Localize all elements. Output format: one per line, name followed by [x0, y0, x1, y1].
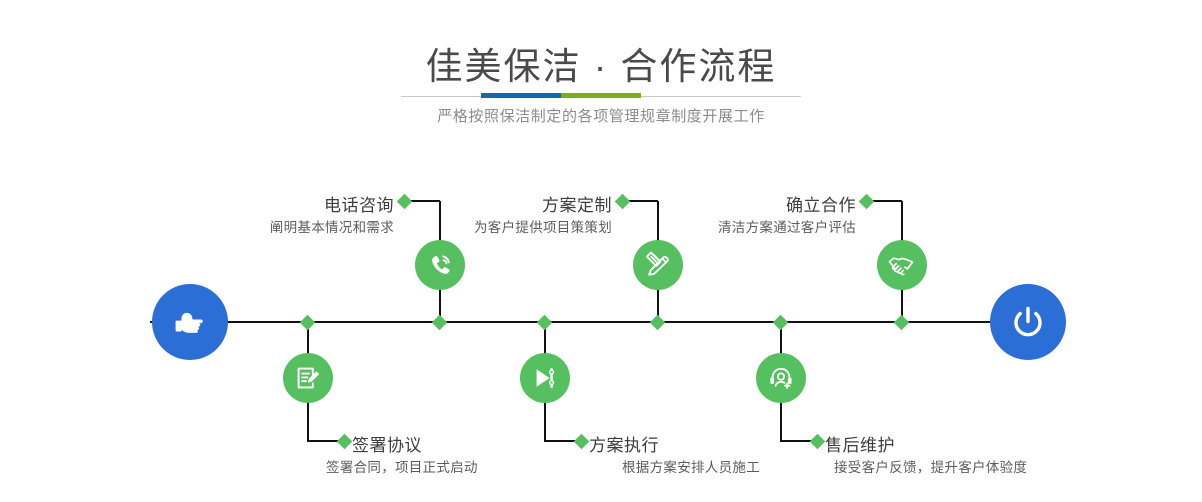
headset-support-icon [767, 364, 795, 392]
step-4-desc: 根据方案安排人员施工 [622, 456, 760, 476]
step-6-desc: 清洁方案通过客户评估 [626, 216, 856, 236]
divider-segment-blue [481, 93, 561, 98]
timeline-axis [150, 321, 1050, 323]
step-2-node [283, 353, 333, 403]
step-5-node [756, 353, 806, 403]
step-1-axis-marker [432, 314, 448, 330]
cooperation-flow-infographic: 佳美保洁 · 合作流程 严格按照保洁制定的各项管理规章制度开展工作 [0, 0, 1202, 502]
step-5-label-marker [810, 433, 826, 449]
step-3-label-marker [615, 193, 631, 209]
page-subtitle: 严格按照保洁制定的各项管理规章制度开展工作 [0, 105, 1202, 126]
step-2-desc: 签署合同，项目正式启动 [326, 456, 478, 476]
step-6-node [877, 240, 927, 290]
step-2-label-marker [337, 433, 353, 449]
step-1-title: 电话咨询 [210, 191, 394, 216]
step-3-title: 方案定制 [430, 191, 612, 216]
title-divider [401, 93, 801, 99]
step-4-node [520, 353, 570, 403]
play-execute-icon [531, 364, 559, 392]
step-4-title: 方案执行 [589, 431, 659, 456]
divider-segment-green [561, 93, 641, 98]
step-1-label-marker [397, 193, 413, 209]
step-2-axis-marker [300, 314, 316, 330]
step-5-desc: 接受客户反馈，提升客户体验度 [834, 456, 1027, 476]
step-1-node [415, 240, 465, 290]
page-title: 佳美保洁 · 合作流程 [0, 36, 1202, 90]
timeline-start-endpoint [152, 284, 228, 360]
step-6-label-marker [859, 193, 875, 209]
step-4-axis-marker [537, 314, 553, 330]
step-3-axis-marker [650, 314, 666, 330]
step-6-axis-marker [894, 314, 910, 330]
pointing-hand-icon [170, 302, 210, 342]
step-5-title: 售后维护 [825, 431, 895, 456]
step-3-node [633, 240, 683, 290]
step-6-title: 确立合作 [676, 191, 856, 216]
pencil-ruler-icon [644, 251, 673, 280]
step-1-desc: 阐明基本情况和需求 [160, 216, 394, 236]
step-3-desc: 为客户提供项目策策划 [380, 216, 612, 236]
document-edit-icon [294, 364, 322, 392]
phone-call-icon [425, 250, 455, 280]
step-5-axis-marker [773, 314, 789, 330]
step-4-label-marker [574, 433, 590, 449]
power-icon [1007, 301, 1049, 343]
handshake-icon [887, 250, 917, 280]
step-2-title: 签署协议 [352, 431, 422, 456]
timeline-end-endpoint [990, 284, 1066, 360]
